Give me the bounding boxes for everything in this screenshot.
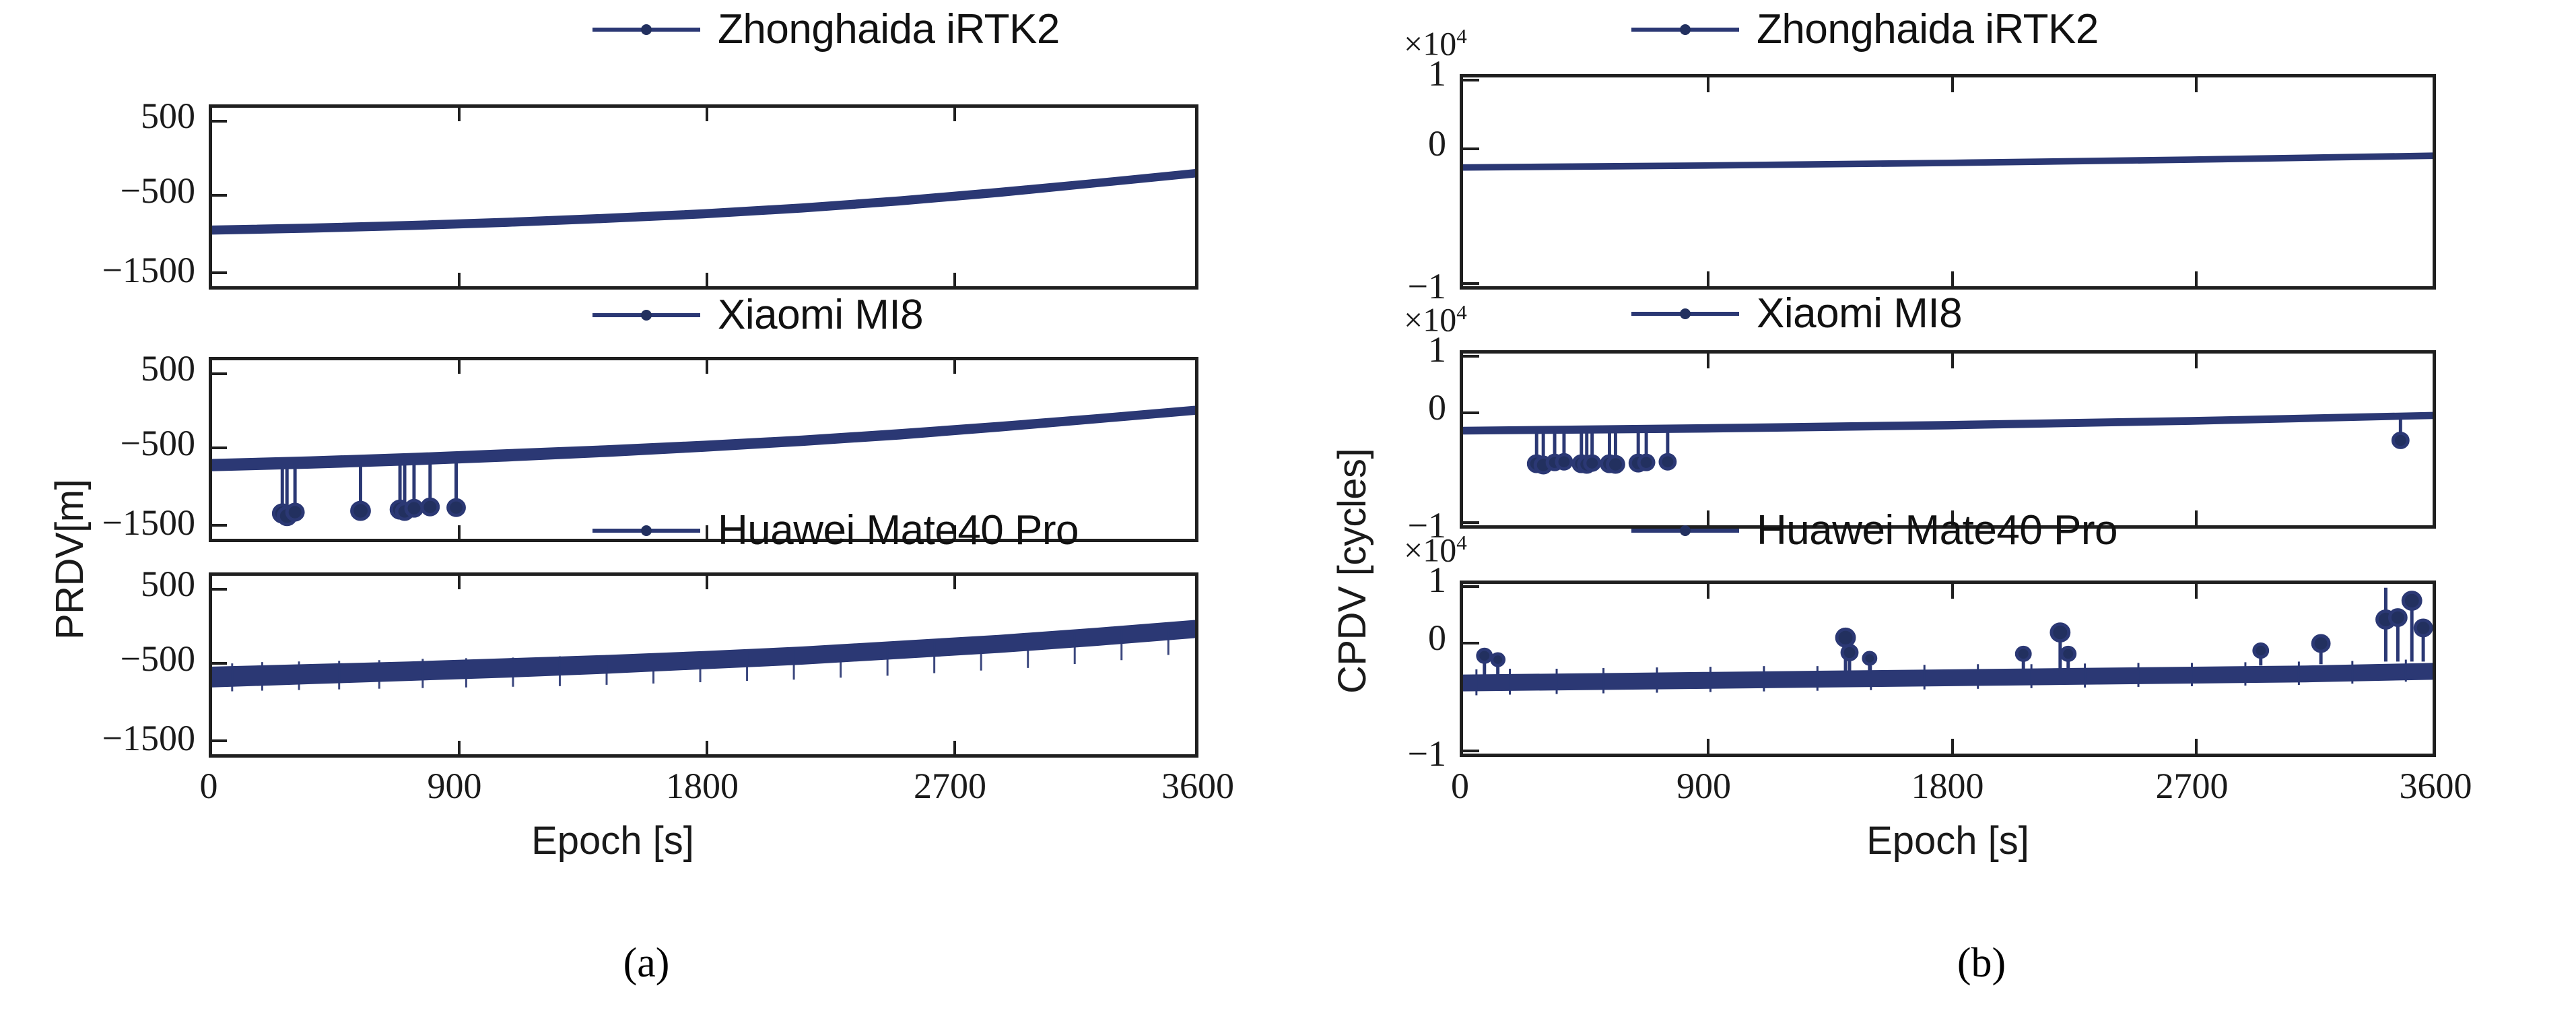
panel-a-xtick-1: 900: [394, 768, 515, 804]
panel-a-s3-ytick-0: 500: [40, 566, 195, 602]
panel-a-s2-ytick-1: −500: [40, 425, 195, 461]
legend-line-marker-icon: [592, 529, 700, 533]
panel-a-subplot-huawei: [209, 572, 1198, 758]
panel-a-xlabel: Epoch [s]: [478, 818, 747, 863]
panel-b-s1-ytick-1: 0: [1328, 125, 1446, 162]
panel-b-subplot-huawei: [1460, 581, 2436, 757]
legend-label: Xiaomi MI8: [1757, 290, 1962, 337]
panel-a-s2-ytick-0: 500: [40, 350, 195, 387]
legend-label: Huawei Mate40 Pro: [1757, 506, 2117, 554]
plot-area-a3: [212, 576, 1195, 754]
panel-b-legend-xiaomi: Xiaomi MI8: [1631, 290, 1962, 337]
panel-a-s1-ytick-0: 500: [40, 98, 195, 134]
panel-b-s1-ytick-2: −1: [1328, 268, 1446, 304]
panel-a-s2-ytick-2: −1500: [40, 504, 195, 541]
panel-b-legend-zhonghaida: Zhonghaida iRTK2: [1631, 5, 2099, 53]
plot-area-b1: [1463, 77, 2433, 286]
panel-a-s1-ytick-1: −500: [40, 172, 195, 209]
panel-b-xtick-2: 1800: [1889, 768, 2006, 804]
legend-label: Xiaomi MI8: [718, 291, 923, 339]
panel-b-caption: (b): [1880, 939, 2082, 987]
panel-b-subplot-xiaomi: [1460, 350, 2436, 529]
panel-b-subplot-zhonghaida: [1460, 74, 2436, 290]
legend-label: Zhonghaida iRTK2: [718, 5, 1060, 53]
panel-a-xtick-3: 2700: [889, 768, 1011, 804]
panel-a-xtick-0: 0: [148, 768, 269, 804]
legend-line-marker-icon: [592, 28, 700, 32]
panel-b-xlabel: Epoch [s]: [1813, 818, 2082, 863]
panel-b-s3-ytick-1: 0: [1328, 620, 1446, 656]
plot-area-b2: [1463, 354, 2433, 525]
legend-line-marker-icon: [1631, 529, 1739, 533]
panel-b-s2-ytick-1: 0: [1328, 389, 1446, 426]
plot-area-b3: [1463, 584, 2433, 754]
panel-a-caption: (a): [545, 939, 747, 987]
panel-a-legend-zhonghaida: Zhonghaida iRTK2: [592, 5, 1060, 53]
panel-b: CPDV [cycles] Zhonghaida iRTK2 ×104 1 0: [1288, 0, 2576, 1027]
panel-a-xtick-2: 1800: [642, 768, 763, 804]
panel-a-legend-huawei: Huawei Mate40 Pro: [592, 506, 1079, 554]
panel-b-xtick-3: 2700: [2133, 768, 2251, 804]
legend-line-marker-icon: [1631, 28, 1739, 32]
panel-a-xtick-4: 3600: [1137, 768, 1258, 804]
legend-label: Zhonghaida iRTK2: [1757, 5, 2099, 53]
legend-label: Huawei Mate40 Pro: [718, 506, 1079, 554]
panel-a-s3-ytick-2: −1500: [40, 720, 195, 756]
plot-area-a1: [212, 108, 1195, 286]
panel-b-xtick-0: 0: [1401, 768, 1519, 804]
legend-line-marker-icon: [1631, 312, 1739, 316]
panel-a-legend-xiaomi: Xiaomi MI8: [592, 291, 923, 339]
panel-a-subplot-zhonghaida: [209, 104, 1198, 290]
figure-root: PRDV[m] Zhonghaida iRTK2 500 −500 −1500: [0, 0, 2576, 1027]
panel-a-ylabel: PRDV[m]: [47, 479, 92, 640]
panel-a-s1-ytick-2: −1500: [40, 252, 195, 288]
panel-b-s3-ytick-2: −1: [1328, 735, 1446, 772]
panel-b-xtick-4: 3600: [2377, 768, 2495, 804]
panel-b-s3-ytick-0: 1: [1328, 562, 1446, 598]
panel-a: PRDV[m] Zhonghaida iRTK2 500 −500 −1500: [0, 0, 1288, 1027]
panel-b-s1-ytick-0: 1: [1328, 55, 1446, 92]
panel-a-s3-ytick-1: −500: [40, 640, 195, 677]
legend-line-marker-icon: [592, 313, 700, 317]
panel-b-s2-ytick-0: 1: [1328, 331, 1446, 368]
panel-b-xtick-1: 900: [1645, 768, 1763, 804]
panel-b-legend-huawei: Huawei Mate40 Pro: [1631, 506, 2117, 554]
